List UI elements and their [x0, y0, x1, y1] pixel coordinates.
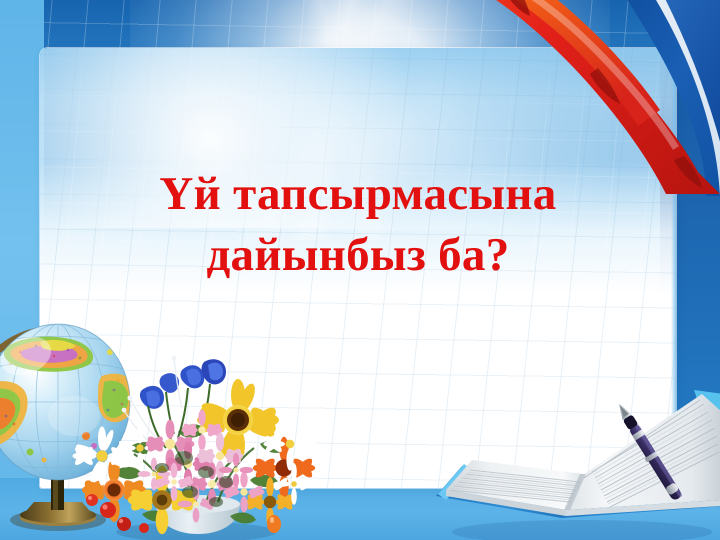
slide-canvas: Үй тапсырмасына дайынбыз ба?	[0, 0, 720, 540]
flower-bouquet-icon	[78, 352, 313, 540]
tricolor-ribbon-icon	[470, 0, 720, 196]
open-book-with-pen-icon	[432, 378, 720, 540]
title-line-2: дайынбыз ба?	[40, 225, 676, 286]
